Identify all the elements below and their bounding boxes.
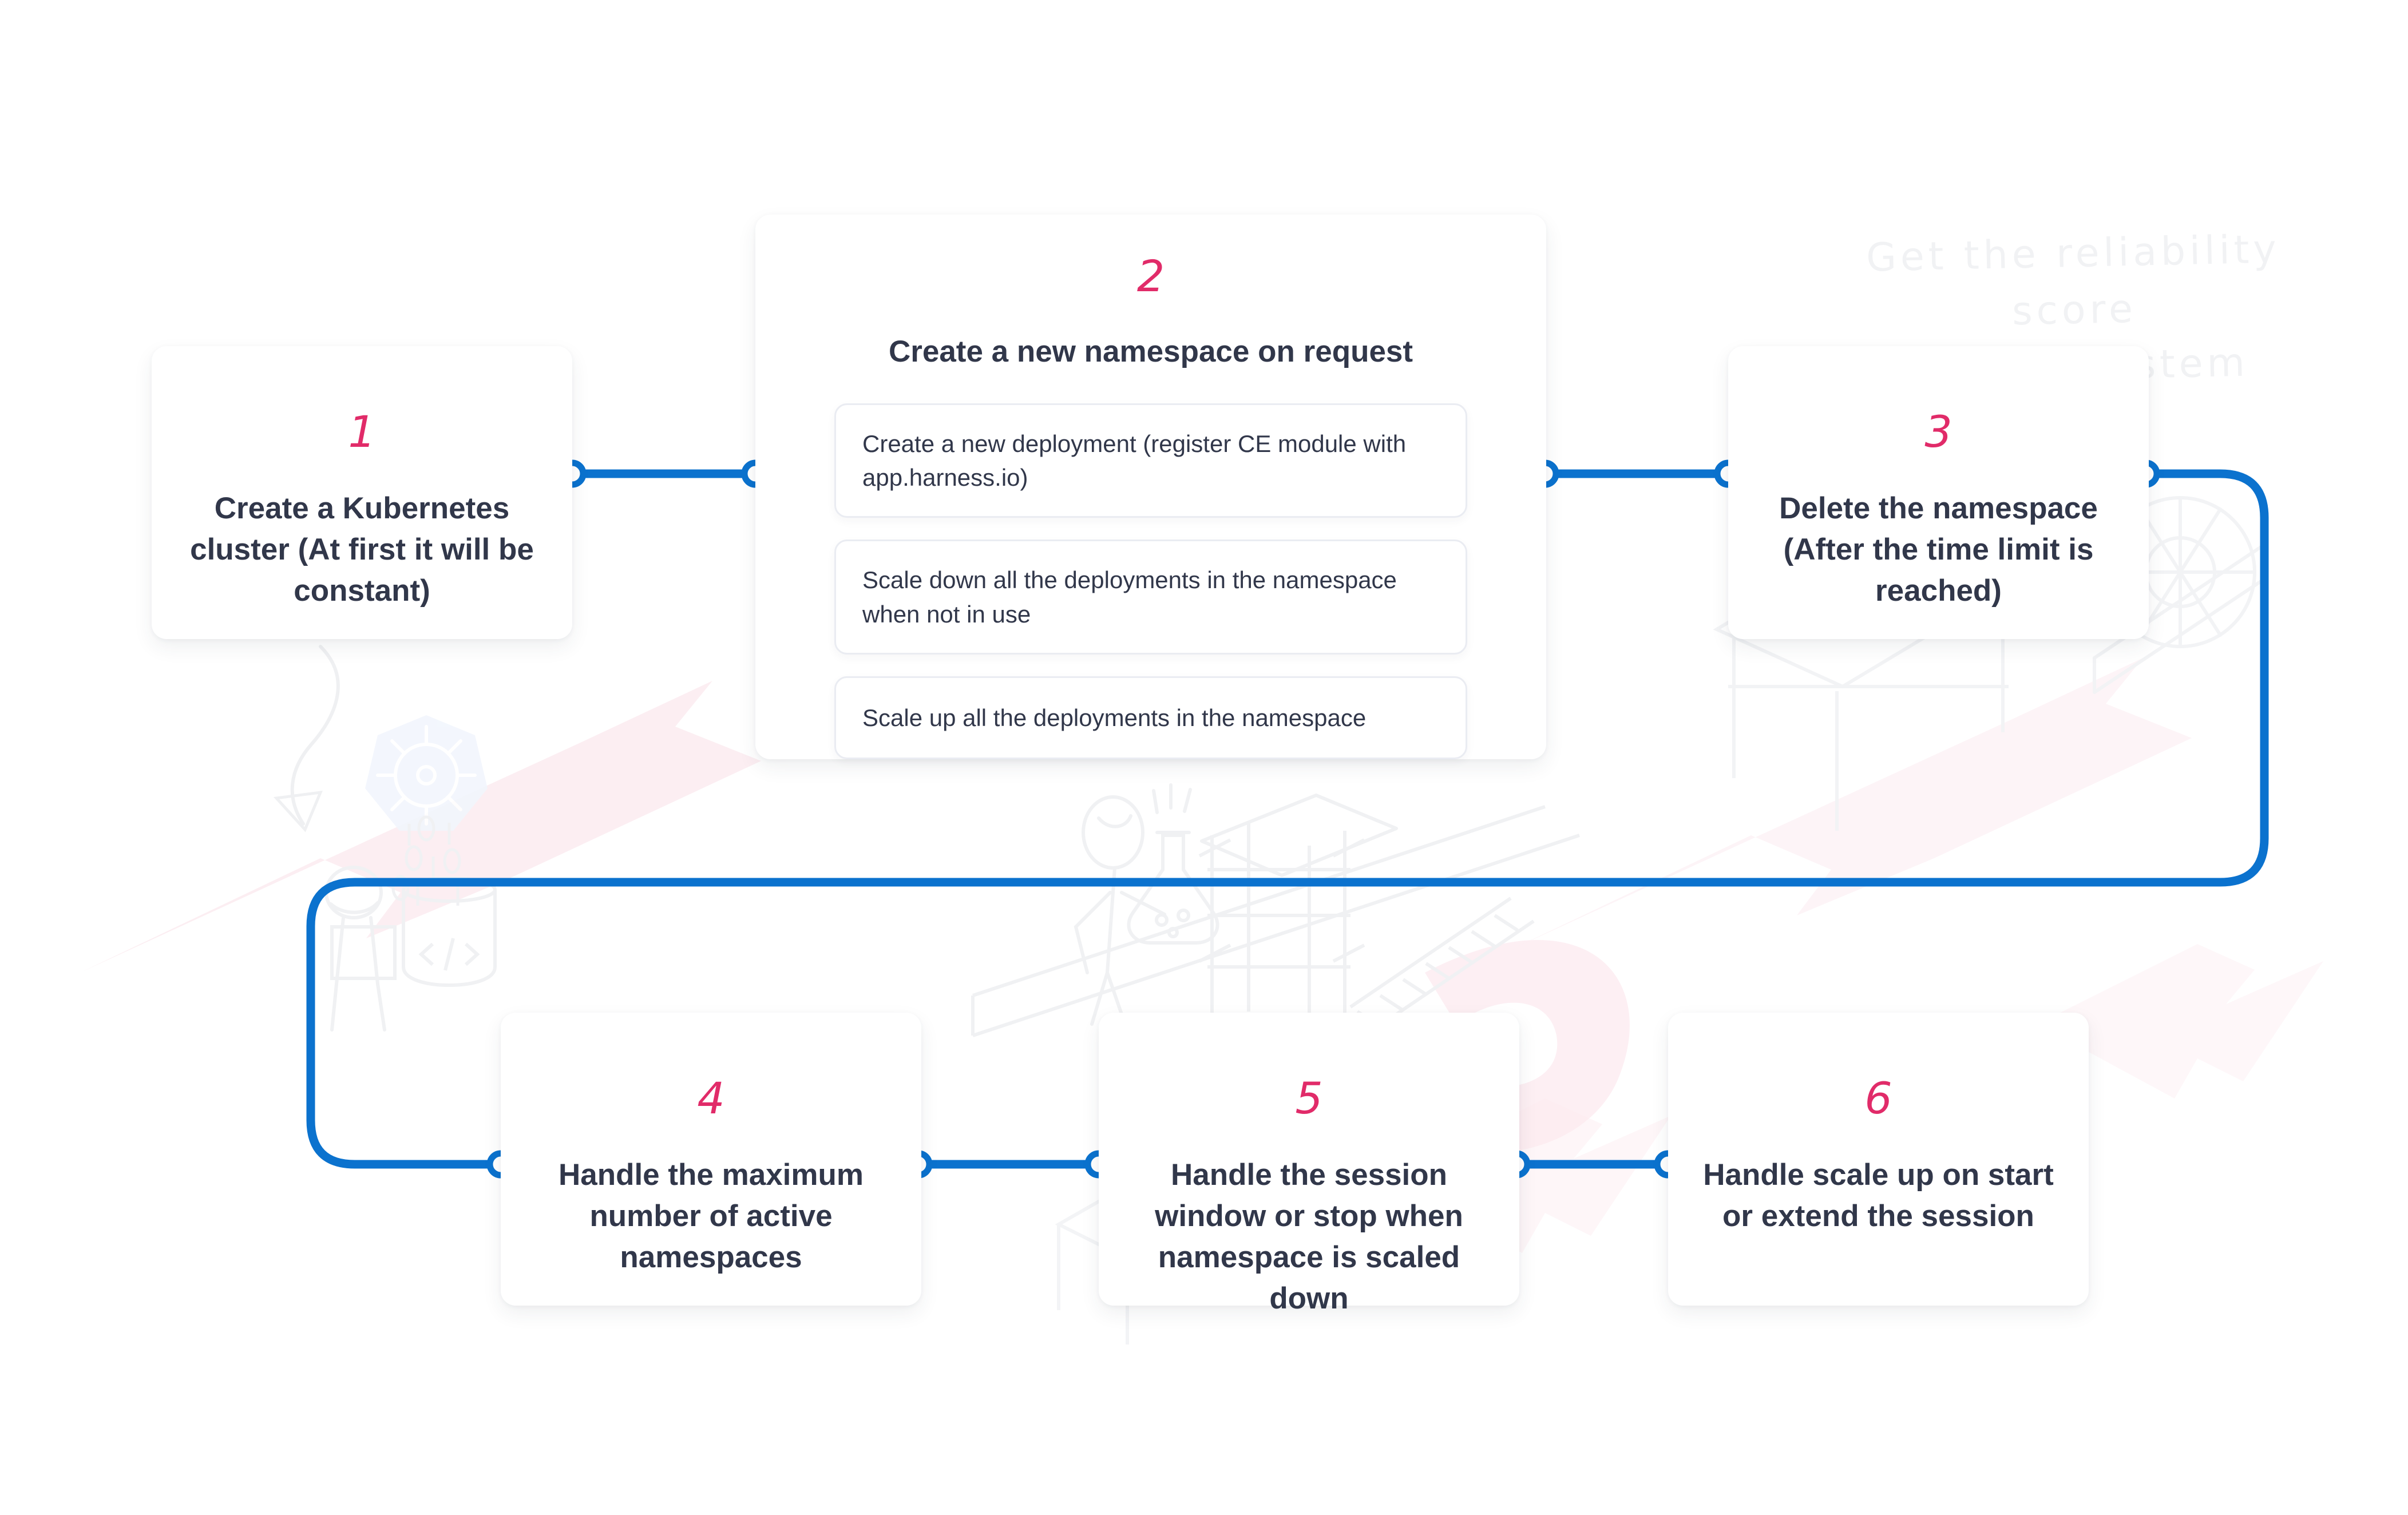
step-number-6: 6: [1864, 1077, 1892, 1120]
step-number-3: 3: [1924, 410, 1952, 454]
step-card-5[interactable]: 5 Handle the session window or stop when…: [1099, 1013, 1519, 1306]
step-number-1: 1: [348, 410, 375, 454]
sub-item-label: Scale up all the deployments in the name…: [862, 701, 1366, 735]
step-title-4: Handle the maximum number of active name…: [535, 1155, 887, 1278]
step-title-1: Create a Kubernetes cluster (At first it…: [186, 488, 538, 612]
step-card-6[interactable]: 6 Handle scale up on start or extend the…: [1668, 1013, 2089, 1306]
sub-item-card[interactable]: Scale down all the deployments in the na…: [834, 540, 1467, 654]
step-card-3[interactable]: 3 Delete the namespace (After the time l…: [1728, 346, 2149, 639]
sub-item-card[interactable]: Create a new deployment (register CE mod…: [834, 403, 1467, 518]
sub-item-label: Create a new deployment (register CE mod…: [862, 427, 1439, 495]
step-card-4[interactable]: 4 Handle the maximum number of active na…: [501, 1013, 921, 1306]
step-card-2[interactable]: 2 Create a new namespace on request Crea…: [755, 215, 1546, 759]
step-number-5: 5: [1295, 1077, 1322, 1120]
step-title-5: Handle the session window or stop when n…: [1133, 1155, 1485, 1319]
step-title-6: Handle scale up on start or extend the s…: [1702, 1155, 2054, 1237]
step-number-2: 2: [1137, 255, 1165, 298]
step-card-1[interactable]: 1 Create a Kubernetes cluster (At first …: [152, 346, 572, 639]
step-title-2: Create a new namespace on request: [889, 331, 1413, 372]
flow-diagram-canvas: Get the reliability score of your system: [0, 0, 2408, 1515]
step-number-4: 4: [697, 1077, 724, 1120]
step-title-3: Delete the namespace (After the time lim…: [1763, 488, 2114, 612]
sub-item-card[interactable]: Scale up all the deployments in the name…: [834, 676, 1467, 759]
sub-item-label: Scale down all the deployments in the na…: [862, 563, 1439, 631]
